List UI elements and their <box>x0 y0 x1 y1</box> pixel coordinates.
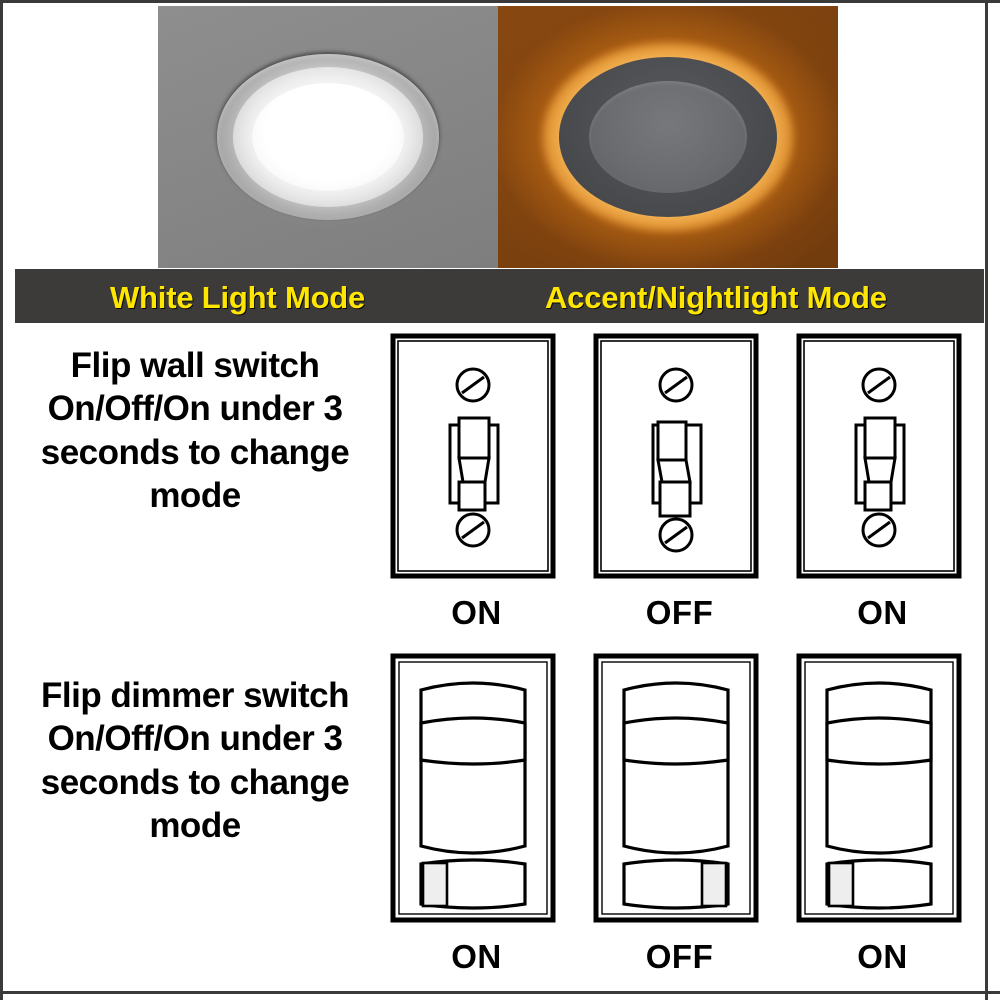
dimmer-switch-3: ON <box>781 650 984 976</box>
dimmer-switch-2: OFF <box>578 650 781 976</box>
wall-switch-1-caption: ON <box>451 594 502 632</box>
mode-title-band: White Light Mode Accent/Nightlight Mode <box>15 269 984 323</box>
instruction-graphic: White Light Mode Accent/Nightlight Mode … <box>0 0 1000 1000</box>
frame-border-left <box>0 0 3 1000</box>
frame-border-top <box>0 0 1000 3</box>
wall-switch-diagrams: ON OFF <box>375 330 984 632</box>
wall-switch-row: Flip wall switch On/Off/On under 3 secon… <box>15 330 984 648</box>
dimmer-switch-1: ON <box>375 650 578 976</box>
wall-switch-3: ON <box>781 330 984 632</box>
dimmer-switch-on-icon <box>387 650 567 932</box>
photo-row <box>158 6 838 268</box>
dimmer-switch-2-caption: OFF <box>646 938 713 976</box>
dimmer-switch-on-icon <box>793 650 973 932</box>
wall-switch-2: OFF <box>578 330 781 632</box>
dimmer-switch-1-caption: ON <box>451 938 502 976</box>
toggle-switch-on-icon <box>387 330 567 588</box>
dimmer-switch-diagrams: ON OFF <box>375 650 984 976</box>
dimmer-switch-off-icon <box>590 650 770 932</box>
accent-nightlight-photo <box>498 6 838 268</box>
wall-switch-instruction: Flip wall switch On/Off/On under 3 secon… <box>15 330 375 518</box>
mode-label-accent-nightlight: Accent/Nightlight Mode <box>545 280 887 316</box>
accent-light-face-icon <box>589 81 747 193</box>
frame-border-right <box>985 0 988 1000</box>
dimmer-switch-instruction: Flip dimmer switch On/Off/On under 3 sec… <box>15 650 375 848</box>
dimmer-switch-3-caption: ON <box>857 938 908 976</box>
dimmer-switch-row: Flip dimmer switch On/Off/On under 3 sec… <box>15 650 984 991</box>
mode-label-white-light: White Light Mode <box>110 280 365 316</box>
frame-border-bottom <box>0 991 1000 994</box>
toggle-switch-on-icon <box>793 330 973 588</box>
wall-switch-3-caption: ON <box>857 594 908 632</box>
toggle-switch-off-icon <box>590 330 770 588</box>
wall-switch-2-caption: OFF <box>646 594 713 632</box>
white-light-photo <box>158 6 498 268</box>
wall-switch-1: ON <box>375 330 578 632</box>
recessed-light-glow-icon <box>252 83 404 191</box>
